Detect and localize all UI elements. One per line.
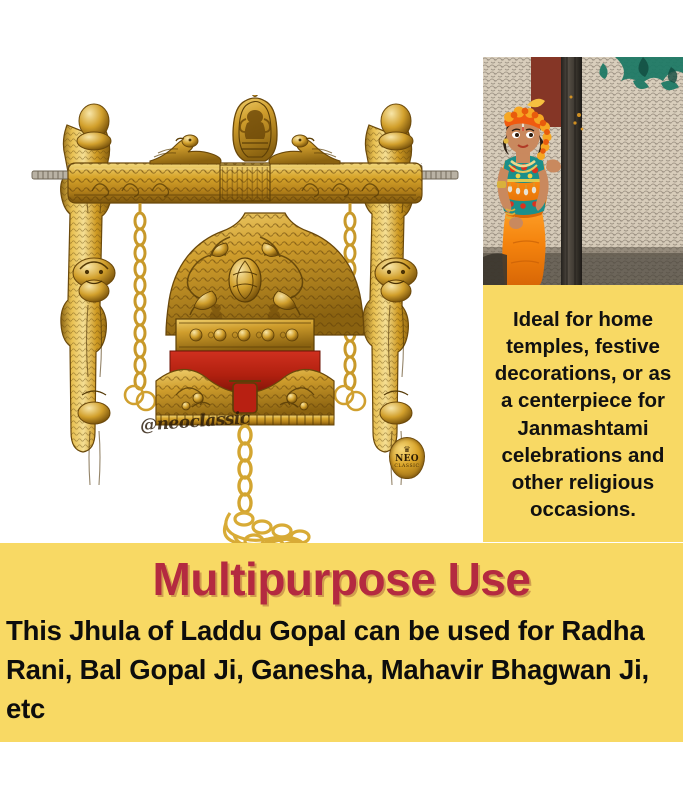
photo-illustration — [483, 57, 683, 285]
peacock-left — [150, 135, 221, 164]
brand-tag-sub: CLASSIC — [394, 465, 419, 470]
ganesha-finial — [233, 95, 277, 161]
lifestyle-photo — [483, 57, 683, 285]
crown-icon: ♛ — [403, 446, 410, 454]
product-illustration — [30, 95, 460, 555]
hanging-chain-left — [135, 203, 145, 389]
peacock-right — [269, 135, 340, 164]
top-cross-bar — [68, 163, 422, 203]
chain-ring-left — [125, 386, 155, 410]
brand-tag: ♛ NEO CLASSIC — [389, 437, 425, 479]
bottom-caption-band: Multipurpose Use This Jhula of Laddu Gop… — [0, 543, 683, 742]
brand-tag-name: NEO — [395, 455, 419, 464]
side-caption-panel: Ideal for home temples, festive decorati… — [483, 285, 683, 542]
band-body: This Jhula of Laddu Gopal can be used fo… — [6, 611, 677, 728]
side-caption-text: Ideal for home temples, festive decorati… — [489, 306, 677, 524]
dangling-chain — [239, 426, 251, 512]
chain-ring-right — [335, 386, 365, 410]
band-title: Multipurpose Use — [0, 555, 683, 603]
infographic-canvas: @neoclassic ♛ NEO CLASSIC — [0, 0, 683, 800]
right-pillar — [363, 104, 458, 485]
backrest-medallion — [229, 258, 261, 302]
left-pillar — [32, 104, 115, 485]
throne-backrest — [166, 213, 364, 351]
product-image — [30, 95, 460, 555]
